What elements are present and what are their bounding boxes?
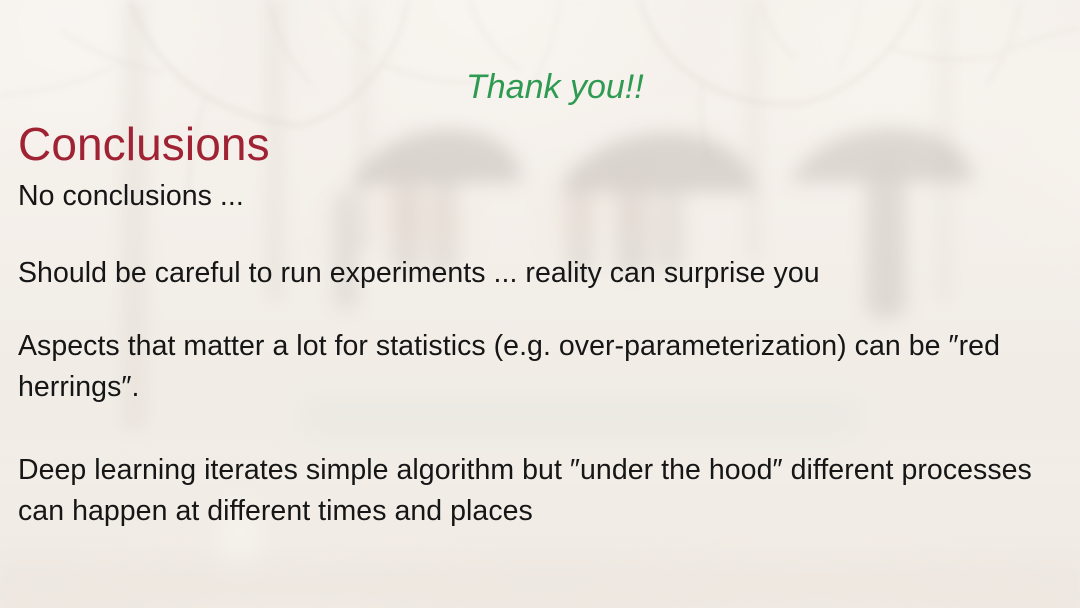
- body-paragraph-3: Aspects that matter a lot for statistics…: [18, 326, 1064, 408]
- body-paragraph-4: Deep learning iterates simple algorithm …: [18, 450, 1064, 532]
- presentation-slide: Conclusions Thank you!! No conclusions .…: [0, 0, 1080, 608]
- slide-content: Conclusions Thank you!! No conclusions .…: [0, 0, 1080, 608]
- thank-you-text: Thank you!!: [466, 70, 644, 104]
- body-paragraph-1: No conclusions ...: [18, 176, 1064, 217]
- body-paragraph-2: Should be careful to run experiments ...…: [18, 253, 1064, 294]
- slide-title: Conclusions: [18, 121, 270, 167]
- slide-body: No conclusions ... Should be careful to …: [18, 176, 1064, 532]
